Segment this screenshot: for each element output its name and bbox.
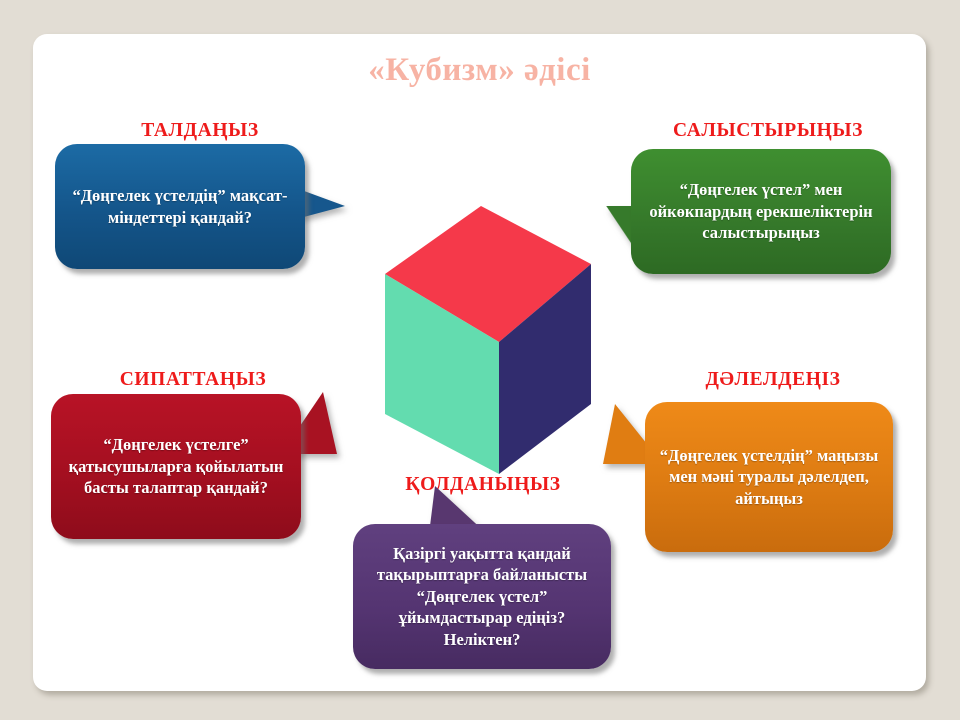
slide-card: «Кубизм» әдісі ТАЛДАҢЫЗ “Дөңгелек үстелд… <box>33 34 926 691</box>
section-label-analyze: ТАЛДАҢЫЗ <box>75 120 325 142</box>
page-title: «Кубизм» әдісі <box>33 52 926 89</box>
section-label-prove: ДӘЛЕЛДЕҢІЗ <box>643 369 903 391</box>
section-label-compare: САЛЫСТЫРЫҢЫЗ <box>623 120 913 142</box>
callout-apply-text: Қазіргі уақытта қандай тақырыптарға байл… <box>367 543 597 650</box>
callout-prove-text: “Дөңгелек үстелдің” маңызы мен мәні тура… <box>659 445 879 509</box>
callout-analyze[interactable]: “Дөңгелек үстелдің” мақсат-міндеттері қа… <box>55 144 305 269</box>
callout-prove[interactable]: “Дөңгелек үстелдің” маңызы мен мәні тура… <box>645 402 893 552</box>
callout-describe[interactable]: “Дөңгелек үстелге” қатысушыларға қойылат… <box>51 394 301 539</box>
callout-describe-text: “Дөңгелек үстелге” қатысушыларға қойылат… <box>65 434 287 498</box>
callout-apply[interactable]: Қазіргі уақытта қандай тақырыптарға байл… <box>353 524 611 669</box>
callout-analyze-text: “Дөңгелек үстелдің” мақсат-міндеттері қа… <box>69 185 291 228</box>
callout-compare-text: “Дөңгелек үстел” мен ойкөкпардың ерекшел… <box>645 179 877 243</box>
callout-compare[interactable]: “Дөңгелек үстел” мен ойкөкпардың ерекшел… <box>631 149 891 274</box>
section-label-describe: СИПАТТАҢЫЗ <box>63 369 323 391</box>
3d-cube <box>351 164 611 484</box>
